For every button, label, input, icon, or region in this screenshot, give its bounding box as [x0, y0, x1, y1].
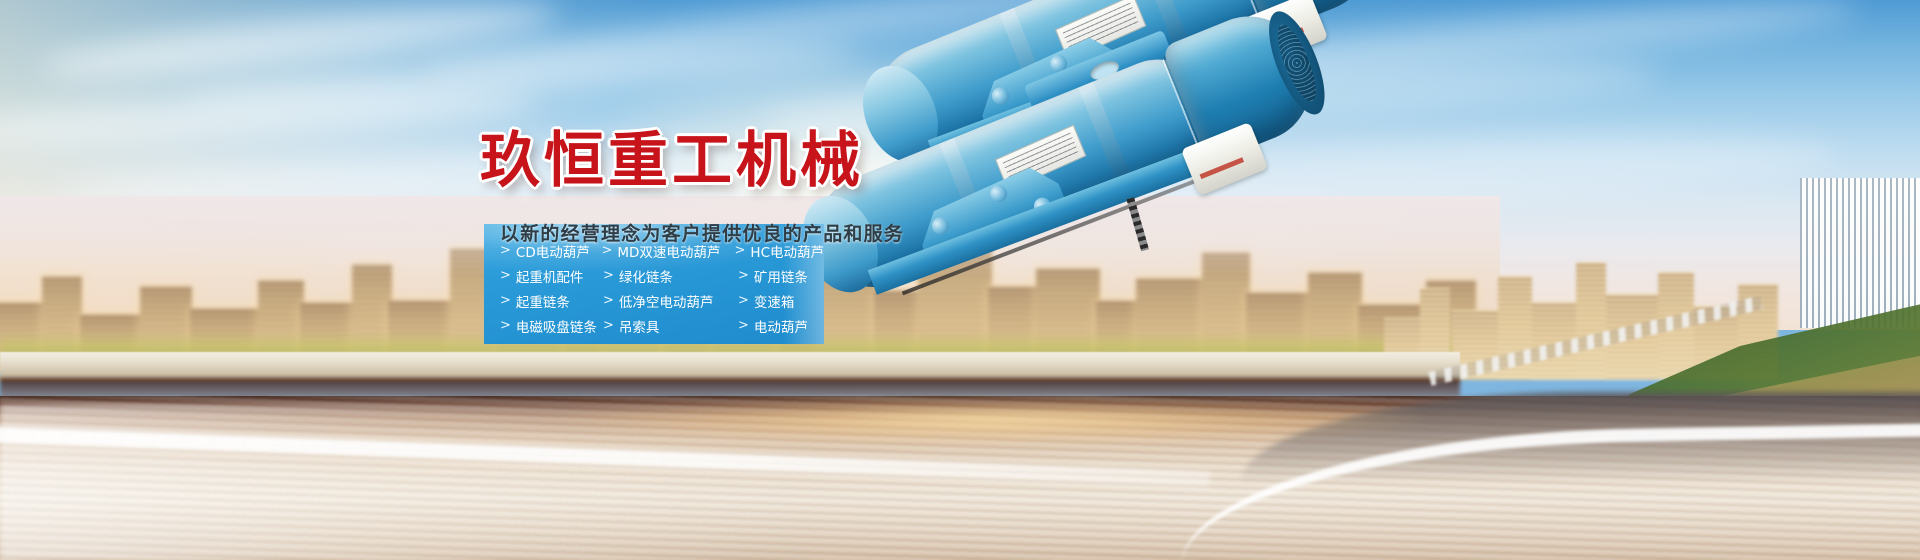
chevron-right-icon: >: [738, 318, 749, 333]
chevron-right-icon: >: [603, 293, 614, 308]
chevron-right-icon: >: [603, 318, 614, 333]
banner-headline: 玖恒重工机械: [480, 112, 864, 199]
product-link-magnetic-chuck-chain[interactable]: > 电磁吸盘链条: [500, 316, 603, 336]
product-link-low-headroom-hoist[interactable]: > 低净空电动葫芦: [603, 291, 738, 311]
banner-subheadline: 以新的经营理念为客户提供优良的产品和服务: [500, 219, 904, 246]
chevron-right-icon: >: [738, 268, 749, 283]
product-row: > 起重机配件 > 绿化链条 > 矿用链条: [484, 263, 824, 288]
product-link-gearbox[interactable]: > 变速箱: [738, 291, 794, 311]
product-row: > 电磁吸盘链条 > 吊索具 > 电动葫芦: [484, 313, 824, 338]
chevron-right-icon: >: [500, 268, 511, 283]
product-label: 变速箱: [754, 291, 795, 311]
product-link-lifting-slings[interactable]: > 吊索具: [603, 316, 738, 336]
promo-banner: > CD电动葫芦 > MD双速电动葫芦 > HC电动葫芦 > 起重机配件 > 绿…: [0, 0, 1920, 560]
road-motion-blur: [0, 404, 820, 560]
product-label: 电动葫芦: [754, 316, 808, 336]
product-link-greening-chain[interactable]: > 绿化链条: [603, 266, 738, 286]
product-link-crane-parts[interactable]: > 起重机配件: [500, 266, 603, 286]
chevron-right-icon: >: [603, 268, 614, 283]
product-link-mining-chain[interactable]: > 矿用链条: [738, 266, 808, 286]
product-label: 起重机配件: [516, 266, 584, 286]
product-label: 绿化链条: [619, 266, 673, 286]
product-label: 吊索具: [619, 316, 660, 336]
product-link-lifting-chain[interactable]: > 起重链条: [500, 291, 603, 311]
glass-tower: [1800, 178, 1920, 328]
product-label: 起重链条: [516, 291, 570, 311]
chevron-right-icon: >: [500, 318, 511, 333]
chevron-right-icon: >: [738, 293, 749, 308]
product-label: 电磁吸盘链条: [516, 316, 597, 336]
chevron-right-icon: >: [500, 293, 511, 308]
product-row: > 起重链条 > 低净空电动葫芦 > 变速箱: [484, 288, 824, 313]
product-link-electric-hoist[interactable]: > 电动葫芦: [738, 316, 808, 336]
product-label: 矿用链条: [754, 266, 808, 286]
product-label: 低净空电动葫芦: [619, 291, 714, 311]
